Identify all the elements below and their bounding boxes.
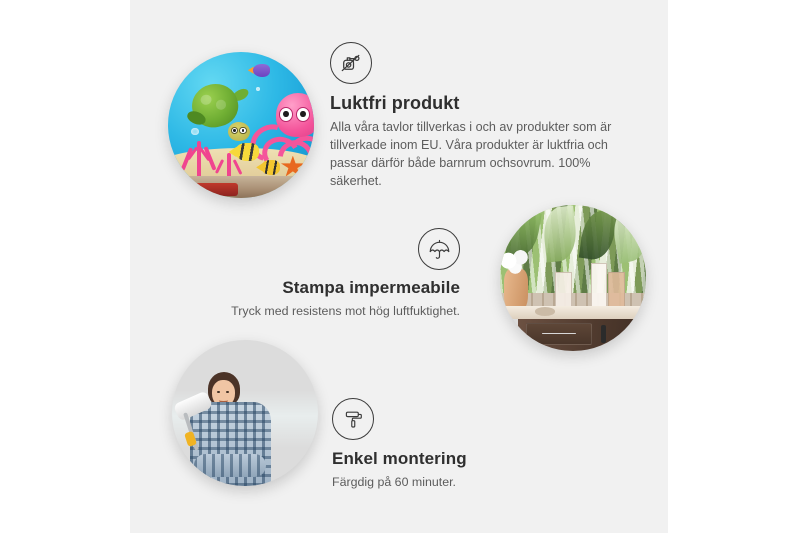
feature-title: Enkel montering (332, 449, 582, 469)
bathroom-jar (555, 272, 572, 309)
fish-icon (235, 143, 258, 162)
paint-roller-icon (332, 398, 374, 440)
photo-painter (172, 340, 318, 486)
photo-aquarium (168, 52, 314, 198)
fish-icon (253, 64, 271, 77)
painter-scene (172, 340, 318, 486)
photo-bathroom (500, 205, 646, 351)
feature-title: Stampa impermeabile (218, 278, 460, 298)
feature-description: Färgdig på 60 minuter. (332, 474, 582, 492)
turtle-icon (187, 84, 251, 142)
bathroom-scene (500, 205, 646, 351)
paint-roller-held-icon (175, 397, 211, 449)
feature-waterproof: Stampa impermeabile Tryck med resistens … (218, 228, 460, 321)
bathroom-jar (591, 263, 608, 309)
feature-description: Tryck med resistens mot hög luftfuktighe… (218, 303, 460, 321)
feature-easy-mounting: Enkel montering Färgdig på 60 minuter. (332, 398, 582, 492)
feature-description: Alla våra tavlor tillverkas i och av pro… (330, 119, 622, 191)
vanity-cabinet (518, 319, 646, 351)
fish-icon (261, 160, 280, 175)
octopus-icon (253, 93, 314, 169)
no-odour-spray-bottle-icon (330, 42, 372, 84)
umbrella-icon (418, 228, 460, 270)
countertop (500, 306, 646, 319)
promo-banner: Luktfri produkt Alla våra tavlor tillver… (0, 0, 800, 533)
woman-figure (190, 372, 272, 486)
flowers-icon (500, 249, 535, 275)
wooden-floor (168, 176, 314, 198)
aquarium-artwork (168, 52, 314, 198)
feature-title: Luktfri produkt (330, 93, 622, 114)
feature-odourless: Luktfri produkt Alla våra tavlor tillver… (330, 42, 622, 191)
